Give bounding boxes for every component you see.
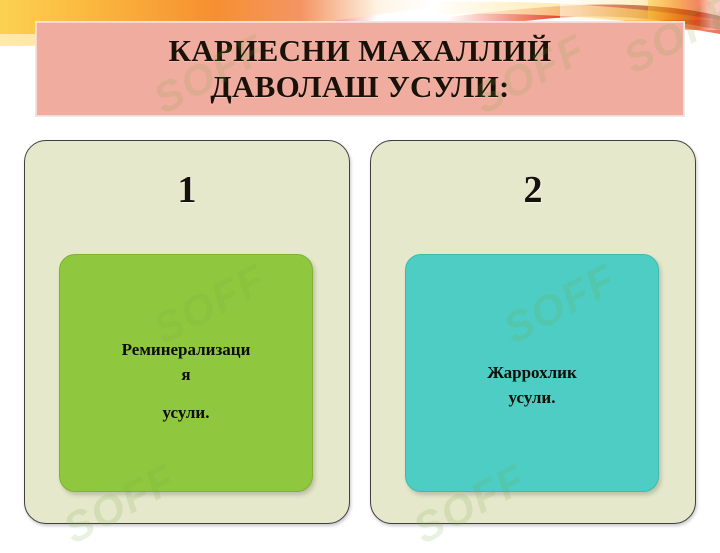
card-number-1: 1: [178, 171, 197, 209]
method-card-1: 1 Реминерализаци я усули.: [24, 140, 350, 524]
title-line-1: КАРИЕСНИ МАХАЛЛИЙ: [169, 33, 552, 69]
page-title: КАРИЕСНИ МАХАЛЛИЙ ДАВОЛАШ УСУЛИ:: [159, 33, 562, 106]
title-line-2: ДАВОЛАШ УСУЛИ:: [169, 69, 552, 105]
method-box-surgical: Жаррохлик усули.: [405, 254, 659, 492]
method-text-1: Реминерализаци я усули.: [60, 338, 312, 426]
method-cards-row: 1 Реминерализаци я усули. 2 Жаррохлик ус…: [0, 140, 720, 528]
method-text-2-line-1: Жаррохлик: [414, 361, 650, 386]
method-text-2-line-2: усули.: [414, 386, 650, 411]
card-number-2: 2: [524, 171, 543, 209]
method-text-1-spacer: [68, 387, 304, 401]
slide-title-banner: КАРИЕСНИ МАХАЛЛИЙ ДАВОЛАШ УСУЛИ:: [36, 22, 684, 116]
method-card-2: 2 Жаррохлик усули.: [370, 140, 696, 524]
method-text-1-line-1: Реминерализаци: [68, 338, 304, 363]
method-text-1-line-2: я: [68, 363, 304, 388]
method-text-2: Жаррохлик усули.: [406, 361, 658, 410]
method-box-remineralization: Реминерализаци я усули.: [59, 254, 313, 492]
method-text-1-line-4: усули.: [68, 401, 304, 426]
